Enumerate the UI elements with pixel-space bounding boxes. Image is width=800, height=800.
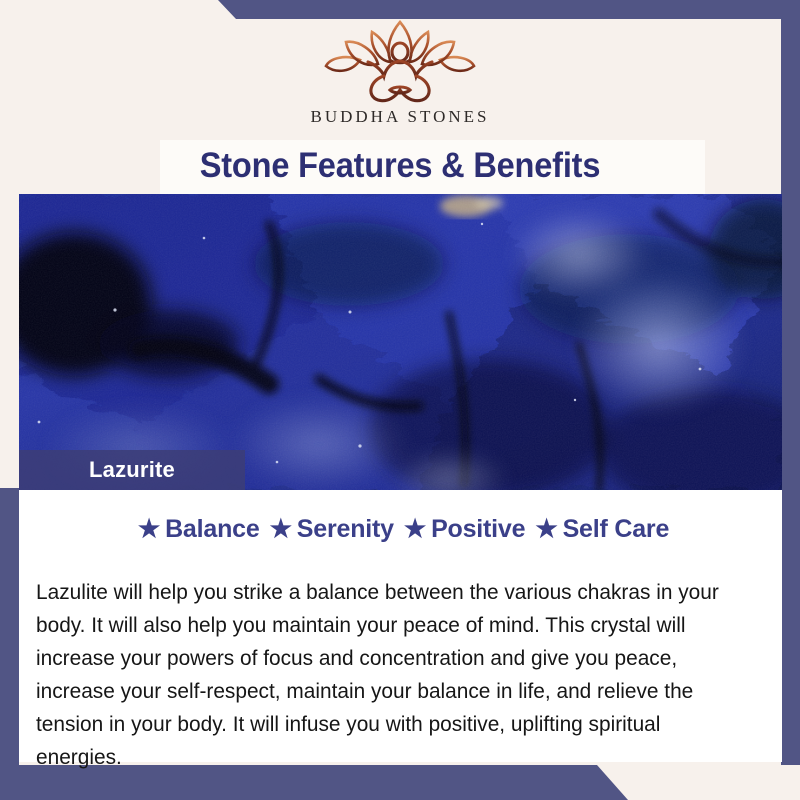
star-icon: ★: [404, 515, 426, 543]
lotus-meditation-figure-icon: [316, 18, 484, 104]
top-accent-band: [0, 0, 800, 19]
stone-name-banner: Lazurite: [19, 450, 245, 490]
keyword-list: ★Balance★Serenity★Positive★Self Care: [19, 514, 782, 544]
keyword-balance: Balance: [165, 515, 260, 543]
stone-description: Lazulite will help you strike a balance …: [36, 576, 732, 774]
keyword-serenity: Serenity: [297, 515, 394, 543]
page-title: Stone Features & Benefits: [28, 139, 772, 193]
stone-name-label: Lazurite: [89, 457, 175, 483]
infographic-poster: BUDDHA STONES Stone Features & Benefits: [0, 0, 800, 800]
star-icon: ★: [535, 515, 557, 543]
stone-texture-graphic: [19, 194, 782, 490]
star-icon: ★: [138, 515, 160, 543]
keyword-positive: Positive: [431, 515, 525, 543]
left-accent-strip: [0, 488, 19, 765]
content-card: ★Balance★Serenity★Positive★Self Care Laz…: [19, 490, 782, 762]
brand-name: BUDDHA STONES: [311, 107, 490, 127]
lazurite-stone-photo: [19, 194, 782, 490]
star-icon: ★: [270, 515, 292, 543]
brand-logo: BUDDHA STONES: [0, 18, 800, 138]
keyword-self-care: Self Care: [563, 515, 670, 543]
